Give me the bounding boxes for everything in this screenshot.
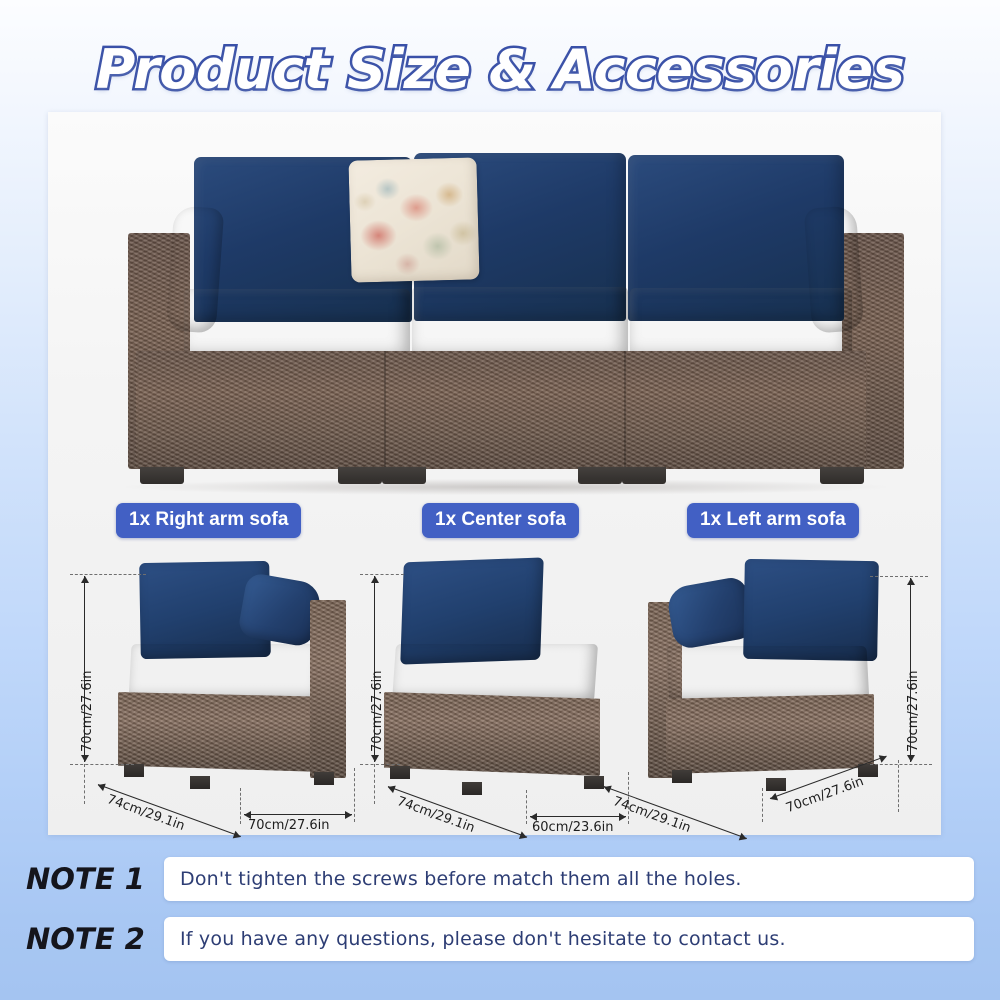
- piece-label-left-arm-sofa[interactable]: 1x Left arm sofa: [687, 503, 859, 538]
- m1-foot-1: [124, 764, 144, 777]
- m1-width-arrow: [244, 814, 352, 815]
- m2-foot-2: [462, 782, 482, 795]
- m1-width-guide-left: [240, 788, 241, 824]
- m2-width-label: 60cm/23.6in: [532, 820, 614, 835]
- m1-width-label: 70cm/27.6in: [248, 818, 330, 833]
- m3-width-guide-left: [762, 788, 763, 822]
- m2-depth-guide: [374, 764, 375, 804]
- m2-width-arrow: [530, 816, 626, 817]
- hero-floor-shadow: [126, 479, 886, 495]
- m1-foot-2: [190, 776, 210, 789]
- hero-base-divider-1: [384, 351, 386, 469]
- diagram-center-sofa: 70cm/27.6in 74cm/29.1in 60cm/23.6in: [360, 552, 650, 822]
- m1-right-arm-panel: [310, 600, 346, 778]
- note-1-tag: NOTE 1: [26, 862, 164, 896]
- m1-foot-3: [314, 772, 334, 785]
- note-1-text: Don't tighten the screws before match th…: [180, 868, 742, 890]
- note-1-box: Don't tighten the screws before match th…: [164, 857, 974, 901]
- note-row-1: NOTE 1 Don't tighten the screws before m…: [26, 857, 974, 901]
- note-2-text: If you have any questions, please don't …: [180, 928, 786, 950]
- m2-foot-1: [390, 766, 410, 779]
- m2-height-label: 70cm/27.6in: [370, 670, 385, 752]
- diagram-right-arm-sofa: 70cm/27.6in 74cm/29.1in 70cm/27.6in: [62, 552, 362, 822]
- m1-height-guide-top: [70, 574, 146, 575]
- m3-height-guide-bottom: [870, 764, 932, 765]
- m3-foot-1: [672, 770, 692, 783]
- m3-bolster-pillow: [665, 576, 755, 651]
- m2-width-guide-left: [526, 790, 527, 824]
- m2-height-guide-bottom: [360, 764, 400, 765]
- note-row-2: NOTE 2 If you have any questions, please…: [26, 917, 974, 961]
- m3-wicker-base: [666, 694, 874, 774]
- m1-height-label: 70cm/27.6in: [80, 670, 95, 752]
- m3-foot-2: [766, 778, 786, 791]
- diagram-left-arm-sofa: 70cm/27.6in 74cm/29.1in 70cm/27.6in: [648, 552, 938, 822]
- page-title: Product Size & Accessories: [96, 38, 905, 101]
- hero-sofa-image: [106, 137, 896, 492]
- page-title-bar: Product Size & Accessories: [0, 38, 1000, 108]
- m2-height-guide-top: [360, 574, 404, 575]
- piece-label-center-sofa[interactable]: 1x Center sofa: [422, 503, 579, 538]
- m2-wicker-base: [384, 692, 600, 776]
- hero-seat-cushion-2: [412, 287, 628, 361]
- m3-height-guide-top: [870, 576, 928, 577]
- floral-accent-pillow: [348, 157, 479, 282]
- m1-width-guide-right: [354, 768, 355, 822]
- m1-wicker-base: [118, 692, 324, 772]
- note-2-tag: NOTE 2: [26, 922, 164, 956]
- m1-depth-guide: [84, 764, 85, 804]
- m2-foot-3: [584, 776, 604, 789]
- m3-height-label: 70cm/27.6in: [906, 670, 921, 752]
- hero-base-divider-2: [624, 351, 626, 469]
- hero-wicker-base: [136, 351, 866, 469]
- note-2-box: If you have any questions, please don't …: [164, 917, 974, 961]
- product-panel: 1x Right arm sofa 1x Center sofa 1x Left…: [48, 112, 941, 835]
- m3-width-guide-right: [898, 760, 899, 812]
- m1-height-guide-bottom: [70, 764, 134, 765]
- m3-width-label: 70cm/27.6in: [784, 774, 866, 816]
- piece-label-right-arm-sofa[interactable]: 1x Right arm sofa: [116, 503, 301, 538]
